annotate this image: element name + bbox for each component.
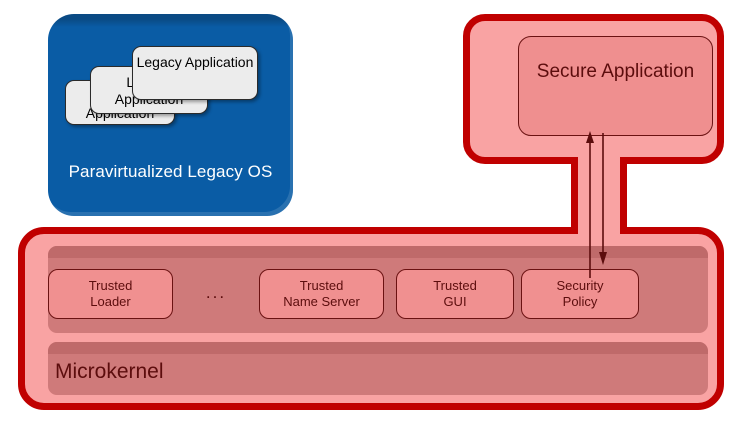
- secure-application-box[interactable]: Secure Application: [518, 36, 713, 136]
- trusted-gui-box[interactable]: Trusted GUI: [396, 269, 514, 319]
- security-policy-line2: Policy: [563, 294, 598, 310]
- trusted-name-server-line1: Trusted: [300, 278, 344, 294]
- legacy-application-card-3-line1: Legacy: [137, 54, 182, 70]
- trusted-name-server-line2: Name Server: [283, 294, 360, 310]
- security-policy-box[interactable]: Security Policy: [521, 269, 639, 319]
- microkernel-label: Microkernel: [55, 360, 164, 384]
- diagram-canvas: Legacy Application Legacy Application Le…: [0, 0, 750, 426]
- services-ellipsis: ...: [196, 283, 236, 303]
- legacy-application-card-3-line2: Application: [185, 54, 254, 70]
- paravirtualized-legacy-os-panel[interactable]: Legacy Application Legacy Application Le…: [48, 14, 293, 216]
- legacy-application-card-3[interactable]: Legacy Application: [132, 46, 258, 100]
- trusted-gui-line1: Trusted: [433, 278, 477, 294]
- trusted-name-server-box[interactable]: Trusted Name Server: [259, 269, 384, 319]
- secure-application-line2: Application: [601, 61, 694, 82]
- paravirtualized-legacy-os-label: Paravirtualized Legacy OS: [48, 162, 293, 182]
- security-policy-line1: Security: [557, 278, 604, 294]
- trusted-loader-line2: Loader: [90, 294, 130, 310]
- trusted-loader-box[interactable]: Trusted Loader: [48, 269, 173, 319]
- trusted-loader-line1: Trusted: [89, 278, 133, 294]
- connector-fill-patch: [578, 150, 620, 242]
- secure-application-line1: Secure: [537, 61, 597, 82]
- trusted-gui-line2: GUI: [443, 294, 466, 310]
